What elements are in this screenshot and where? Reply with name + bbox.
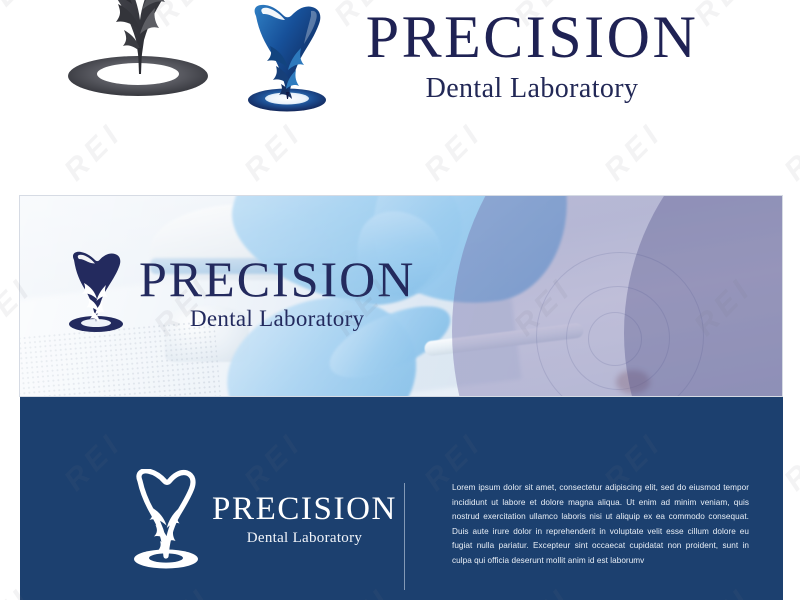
panel-logo-lockup: PRECISION Dental Laboratory bbox=[130, 469, 397, 573]
panel-body-paragraph: Lorem ipsum dolor sit amet, consectetur … bbox=[452, 481, 749, 569]
logo-showcase-row: PRECISION Dental Laboratory bbox=[0, 0, 800, 190]
tooth-disc-logo-mark-navy-icon bbox=[65, 250, 127, 336]
primary-wordmark-name: PRECISION bbox=[332, 8, 732, 67]
banner-wordmark: PRECISION Dental Laboratory bbox=[139, 253, 415, 334]
hero-banner: PRECISION Dental Laboratory bbox=[20, 196, 782, 396]
banner-wordmark-tagline: Dental Laboratory bbox=[139, 305, 415, 334]
tooth-disc-logo-mark-monochrome-icon bbox=[52, 0, 224, 120]
brand-presentation-stage: PRECISION Dental Laboratory bbox=[0, 0, 800, 600]
primary-wordmark-tagline: Dental Laboratory bbox=[332, 71, 732, 106]
decorative-blur-dot bbox=[616, 370, 650, 394]
panel-wordmark-name: PRECISION bbox=[212, 493, 397, 526]
panel-wordmark: PRECISION Dental Laboratory bbox=[212, 493, 397, 549]
primary-wordmark: PRECISION Dental Laboratory bbox=[332, 8, 732, 106]
banner-wordmark-name: PRECISION bbox=[139, 255, 415, 303]
tooth-disc-logo-mark-blue-icon bbox=[243, 2, 331, 117]
tooth-disc-logo-mark-white-icon bbox=[130, 469, 202, 573]
panel-wordmark-tagline: Dental Laboratory bbox=[212, 529, 397, 549]
banner-logo-lockup: PRECISION Dental Laboratory bbox=[65, 250, 415, 336]
navy-content-panel: PRECISION Dental Laboratory Lorem ipsum … bbox=[20, 397, 783, 600]
vertical-divider bbox=[404, 483, 405, 590]
